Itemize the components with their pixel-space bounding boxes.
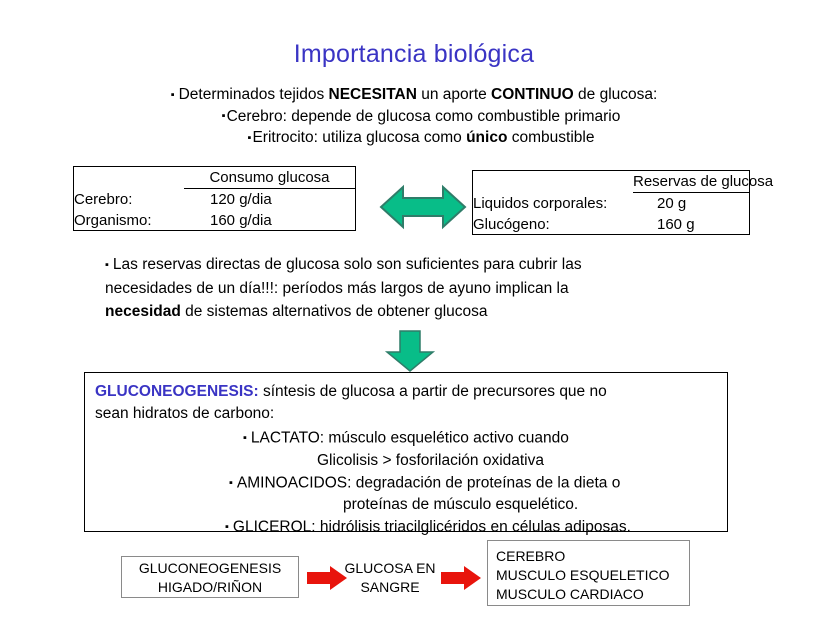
- flow-target-line-3: MUSCULO CARDIACO: [496, 585, 689, 604]
- square-bullet-icon: ▪: [229, 477, 237, 489]
- item-lactato-line-1: LACTATO: músculo esquelético activo cuan…: [251, 430, 569, 447]
- reserves-line2-text: necesidades de un día!!!: períodos más l…: [105, 280, 569, 297]
- item-glicerol-line-1: GLICEROL: hidrólisis triacilglicéridos e…: [233, 519, 631, 536]
- reserves-line3-rest: de sistemas alternativos de obtener gluc…: [181, 303, 488, 320]
- flow-middle-line-2: SANGRE: [340, 578, 440, 597]
- intro-line1-part3: de glucosa:: [574, 86, 658, 103]
- intro-line3-bold-unico: único: [466, 129, 507, 146]
- intro-line1-bold-necesitan: NECESITAN: [329, 86, 417, 103]
- row-label: Glucógeno:: [473, 214, 633, 235]
- intro-line3-part1: Eritrocito: utiliza glucosa como: [252, 129, 466, 146]
- flow-box-target-inner: CEREBRO MUSCULO ESQUELETICO MUSCULO CARD…: [488, 541, 689, 604]
- table-consumo-glucosa: Consumo glucosa Cerebro: 120 g/dia Organ…: [73, 166, 356, 231]
- item-lactato-line-2: Glicolisis > fosforilación oxidativa: [95, 450, 727, 472]
- page-title-text: Importancia biológica: [294, 40, 534, 68]
- table-row: Cerebro: 120 g/dia: [74, 189, 355, 211]
- gluconeogenesis-item-aminoacidos: ▪AMINOACIDOS: degradación de proteínas d…: [95, 472, 727, 495]
- row-value: 160 g/dia: [184, 210, 355, 231]
- page-title: Importancia biológica: [0, 40, 828, 69]
- flow-middle-line-1: GLUCOSA EN: [340, 559, 440, 578]
- reserves-paragraph-line-3: necesidad de sistemas alternativos de ob…: [105, 300, 725, 323]
- gluconeogenesis-intro-line-2: sean hidratos de carbono:: [95, 403, 727, 425]
- row-value: 160 g: [633, 214, 749, 235]
- flow-label-glucosa-en-sangre: GLUCOSA EN SANGRE: [340, 559, 440, 597]
- header-spacer-cell: [473, 171, 633, 193]
- reserves-line1-text: Las reservas directas de glucosa solo so…: [113, 256, 582, 273]
- gluconeogenesis-intro-line-1: GLUCONEOGENESIS: síntesis de glucosa a p…: [95, 381, 727, 403]
- reserves-paragraph: ▪Las reservas directas de glucosa solo s…: [105, 253, 725, 323]
- square-bullet-icon: ▪: [171, 89, 179, 101]
- flow-box-target-tissues: CEREBRO MUSCULO ESQUELETICO MUSCULO CARD…: [487, 540, 690, 606]
- reserves-line3-bold-necesidad: necesidad: [105, 303, 181, 320]
- intro-line1-part1: Determinados tejidos: [179, 86, 329, 103]
- item-aminoacidos-line-1: AMINOACIDOS: degradación de proteínas de…: [237, 474, 620, 491]
- row-value: 20 g: [633, 193, 749, 215]
- intro-line3-part2: combustible: [507, 129, 594, 146]
- gluconeogenesis-box: GLUCONEOGENESIS: síntesis de glucosa a p…: [84, 372, 728, 532]
- down-arrow-icon: [380, 330, 440, 372]
- intro-line2-text: Cerebro: depende de glucosa como combust…: [227, 108, 621, 125]
- flow-target-line-2: MUSCULO ESQUELETICO: [496, 566, 689, 585]
- table-row: Organismo: 160 g/dia: [74, 210, 355, 231]
- row-label: Cerebro:: [74, 189, 184, 211]
- gluconeogenesis-item-glicerol: ▪GLICEROL: hidrólisis triacilglicéridos …: [95, 516, 727, 539]
- table: Consumo glucosa Cerebro: 120 g/dia Organ…: [74, 167, 355, 231]
- intro-bullet-list: ▪Determinados tejidos NECESITAN un aport…: [0, 84, 828, 149]
- flow-box-gluconeogenesis-higado-rinon: GLUCONEOGENESIS HIGADO/RIÑON: [121, 556, 299, 598]
- double-headed-arrow-icon: [379, 184, 467, 230]
- table-consumo-header: Consumo glucosa: [184, 167, 355, 189]
- flow-source-line-1: GLUCONEOGENESIS: [122, 559, 298, 578]
- gluconeogenesis-item-lactato: ▪LACTATO: músculo esquelético activo cua…: [95, 427, 727, 450]
- table: Reservas de glucosa Liquidos corporales:…: [473, 171, 749, 235]
- flow-source-line-2: HIGADO/RIÑON: [122, 578, 298, 597]
- item-aminoacidos-line-2: proteínas de músculo esquelético.: [95, 494, 727, 516]
- square-bullet-icon: ▪: [105, 259, 113, 271]
- header-spacer-cell: [74, 167, 184, 189]
- table-row: Liquidos corporales: 20 g: [473, 193, 749, 215]
- table-reservas-glucosa: Reservas de glucosa Liquidos corporales:…: [472, 170, 750, 235]
- intro-line1-part2: un aporte: [417, 86, 491, 103]
- row-label: Liquidos corporales:: [473, 193, 633, 215]
- gluconeogenesis-intro-text-1: síntesis de glucosa a partir de precurso…: [259, 383, 607, 400]
- table-header-row: Reservas de glucosa: [473, 171, 749, 193]
- reserves-paragraph-line-2: necesidades de un día!!!: períodos más l…: [105, 277, 725, 300]
- gluconeogenesis-item-list: ▪LACTATO: músculo esquelético activo cua…: [85, 427, 727, 539]
- row-label: Organismo:: [74, 210, 184, 231]
- reserves-paragraph-line-1: ▪Las reservas directas de glucosa solo s…: [105, 253, 725, 277]
- square-bullet-icon: ▪: [243, 432, 251, 444]
- table-header-row: Consumo glucosa: [74, 167, 355, 189]
- intro-bullet-line-2: ▪Cerebro: depende de glucosa como combus…: [0, 106, 828, 128]
- table-reservas-header: Reservas de glucosa: [633, 171, 749, 193]
- intro-line1-bold-continuo: CONTINUO: [491, 86, 574, 103]
- intro-bullet-line-1: ▪Determinados tejidos NECESITAN un aport…: [0, 84, 828, 106]
- row-value: 120 g/dia: [184, 189, 355, 211]
- flow-box-source-inner: GLUCONEOGENESIS HIGADO/RIÑON: [122, 557, 298, 597]
- gluconeogenesis-intro: GLUCONEOGENESIS: síntesis de glucosa a p…: [85, 373, 727, 425]
- flow-target-line-1: CEREBRO: [496, 547, 689, 566]
- gluconeogenesis-heading: GLUCONEOGENESIS:: [95, 383, 259, 400]
- square-bullet-icon: ▪: [225, 521, 233, 533]
- intro-bullet-line-3: ▪Eritrocito: utiliza glucosa como único …: [0, 127, 828, 149]
- table-row: Glucógeno: 160 g: [473, 214, 749, 235]
- right-arrow-icon: [440, 565, 482, 591]
